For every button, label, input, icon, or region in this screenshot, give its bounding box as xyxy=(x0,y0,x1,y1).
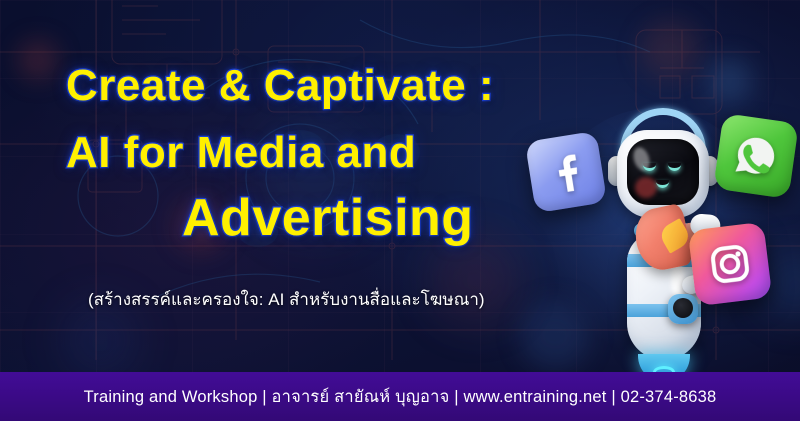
headline-line-3: Advertising xyxy=(0,192,540,245)
facebook-icon xyxy=(525,131,607,213)
footer-bar: Training and Workshop | อาจารย์ สายัณห์ … xyxy=(0,372,800,421)
robot-face-screen xyxy=(627,139,699,205)
footer-contact-text: Training and Workshop | อาจารย์ สายัณห์ … xyxy=(84,384,717,410)
headline-line-1: Create & Captivate : xyxy=(0,64,540,109)
promotional-banner: Create & Captivate : AI for Media and Ad… xyxy=(0,0,800,421)
robot-smile xyxy=(656,180,669,188)
robot-hand-left xyxy=(668,294,698,324)
robot-eye-right xyxy=(668,163,681,171)
instagram-icon xyxy=(688,222,773,307)
headline-block: Create & Captivate : AI for Media and Ad… xyxy=(0,64,540,245)
thai-subtitle: (สร้างสรรค์และครองใจ: AI สำหรับงานสื่อแล… xyxy=(88,286,548,313)
mascot-artwork xyxy=(500,78,800,378)
whatsapp-icon xyxy=(713,113,799,199)
headline-line-2: AI for Media and xyxy=(0,131,540,176)
robot-eye-left xyxy=(643,163,656,171)
